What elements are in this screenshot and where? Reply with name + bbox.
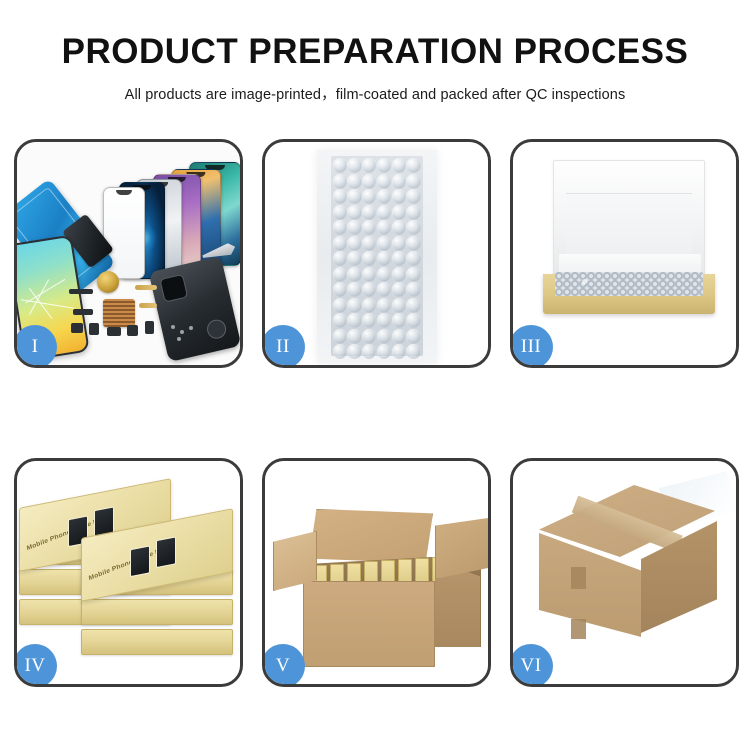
process-step-card-4: Mobile Phone Spare Parts: [14, 458, 243, 687]
bubble-icon: [392, 205, 406, 220]
phone-screen-thumbnail: [156, 536, 176, 568]
bubble-icon: [347, 298, 361, 313]
bubble-icon: [333, 189, 347, 204]
bubble-icon: [362, 174, 376, 189]
spare-parts-group: [69, 269, 199, 347]
bubble-icon: [362, 220, 376, 235]
bubble-icon: [392, 313, 406, 328]
bubble-icon: [333, 174, 347, 189]
small-part-icon: [73, 309, 93, 315]
bubble-icon: [333, 313, 347, 328]
screw-icon: [177, 337, 181, 341]
bubble-icon: [377, 298, 391, 313]
notch-icon: [116, 190, 132, 195]
bubble-icon: [347, 189, 361, 204]
page-title: PRODUCT PREPARATION PROCESS: [0, 34, 750, 71]
bubble-icon: [333, 282, 347, 297]
bubble-icon: [406, 174, 420, 189]
step-badge-1: I: [14, 325, 57, 368]
battery-connector-icon: [127, 325, 138, 336]
bubble-icon: [362, 313, 376, 328]
process-step-grid: I II III: [14, 139, 736, 687]
bubble-icon: [377, 267, 391, 282]
bubble-icon: [362, 158, 376, 173]
bubble-wrapped-contents-icon: [555, 272, 703, 296]
bubble-icon: [333, 205, 347, 220]
step-badge-2: II: [262, 325, 305, 368]
small-part-icon: [145, 321, 154, 334]
flex-cable-icon: [135, 285, 157, 290]
bubble-icon: [377, 313, 391, 328]
bubble-icon: [362, 251, 376, 266]
bubble-icon: [392, 236, 406, 251]
bubble-icon: [347, 158, 361, 173]
bubble-icon: [333, 267, 347, 282]
bubble-icon: [347, 251, 361, 266]
bubble-icon: [377, 205, 391, 220]
bubble-icon: [406, 329, 420, 344]
printed-box-edge: [81, 629, 233, 655]
bubble-icon: [406, 267, 420, 282]
bubble-icon: [362, 329, 376, 344]
bubble-icon: [406, 236, 420, 251]
bubble-icon: [333, 298, 347, 313]
bubble-icon: [347, 236, 361, 251]
bubble-icon: [362, 282, 376, 297]
bubble-icon: [347, 174, 361, 189]
bubble-icon: [347, 313, 361, 328]
bubble-icon: [406, 205, 420, 220]
bubble-icon: [392, 282, 406, 297]
bubble-icon: [406, 313, 420, 328]
small-part-icon: [89, 323, 99, 335]
speaker-coil-icon: [97, 271, 119, 293]
bubble-icon: [406, 220, 420, 235]
step-badge-3: III: [510, 325, 553, 368]
bubble-icon: [347, 220, 361, 235]
screw-icon: [171, 325, 175, 329]
bubble-icon: [377, 251, 391, 266]
bubble-icon: [406, 344, 420, 359]
carton-front-face: [303, 581, 435, 667]
phone-screen-thumbnail: [130, 545, 150, 577]
bubble-icon: [333, 158, 347, 173]
bubble-icon: [333, 236, 347, 251]
bubble-icon: [392, 251, 406, 266]
bubble-icon: [362, 205, 376, 220]
bubble-icon: [347, 344, 361, 359]
small-part-icon: [69, 289, 93, 294]
bubble-icon: [362, 267, 376, 282]
bubble-icon: [392, 189, 406, 204]
tape-tab-icon: [571, 619, 586, 639]
page-subtitle: All products are image-printed，film-coat…: [0, 83, 750, 104]
bubble-icon: [377, 344, 391, 359]
bubble-icon: [392, 298, 406, 313]
bubble-icon: [362, 236, 376, 251]
bubble-icon: [406, 298, 420, 313]
bubble-icon: [377, 174, 391, 189]
printed-box-stack: Mobile Phone Spare Parts: [19, 477, 240, 673]
box-spec-lines: [176, 521, 222, 530]
bubble-icon: [377, 189, 391, 204]
header: PRODUCT PREPARATION PROCESS All products…: [0, 34, 750, 104]
bubble-icon: [392, 329, 406, 344]
bubble-icon: [406, 189, 420, 204]
bubble-icon: [406, 251, 420, 266]
bubble-wrap-grid: [331, 156, 423, 356]
bubble-icon: [347, 205, 361, 220]
printed-box-edge: [81, 599, 233, 625]
bubble-icon: [406, 282, 420, 297]
phone-fan-group: [113, 162, 240, 277]
bubble-icon: [392, 220, 406, 235]
bubble-icon: [347, 329, 361, 344]
bubble-icon: [333, 251, 347, 266]
bubble-icon: [362, 344, 376, 359]
logic-board-icon: [103, 299, 135, 327]
bubble-icon: [377, 158, 391, 173]
small-part-icon: [107, 327, 121, 336]
process-step-card-1: I: [14, 139, 243, 368]
tape-tab-icon: [571, 567, 586, 589]
step-badge-6: VI: [510, 644, 553, 687]
bubble-icon: [406, 158, 420, 173]
process-step-card-2: II: [262, 139, 491, 368]
bubble-icon: [392, 267, 406, 282]
bubble-icon: [392, 174, 406, 189]
bubble-icon: [362, 189, 376, 204]
bubble-icon: [347, 282, 361, 297]
bubble-icon: [377, 329, 391, 344]
small-part-icon: [71, 323, 83, 333]
flex-cable-icon: [139, 303, 157, 308]
process-step-card-5: V: [262, 458, 491, 687]
product-preparation-infographic: PRODUCT PREPARATION PROCESS All products…: [0, 0, 750, 750]
bubble-icon: [333, 220, 347, 235]
bubble-icon: [333, 329, 347, 344]
screw-icon: [180, 330, 184, 334]
screws-group: [171, 325, 197, 343]
box-spec-lines: [114, 491, 160, 500]
bubble-icon: [377, 220, 391, 235]
bubble-icon: [362, 298, 376, 313]
step-badge-4: IV: [14, 644, 57, 687]
bubble-icon: [347, 267, 361, 282]
process-step-card-6: VI: [510, 458, 739, 687]
bubble-icon: [377, 282, 391, 297]
screw-icon: [189, 326, 193, 330]
process-step-card-3: III: [510, 139, 739, 368]
step-badge-5: V: [262, 644, 305, 687]
bubble-icon: [377, 236, 391, 251]
bubble-icon: [392, 158, 406, 173]
